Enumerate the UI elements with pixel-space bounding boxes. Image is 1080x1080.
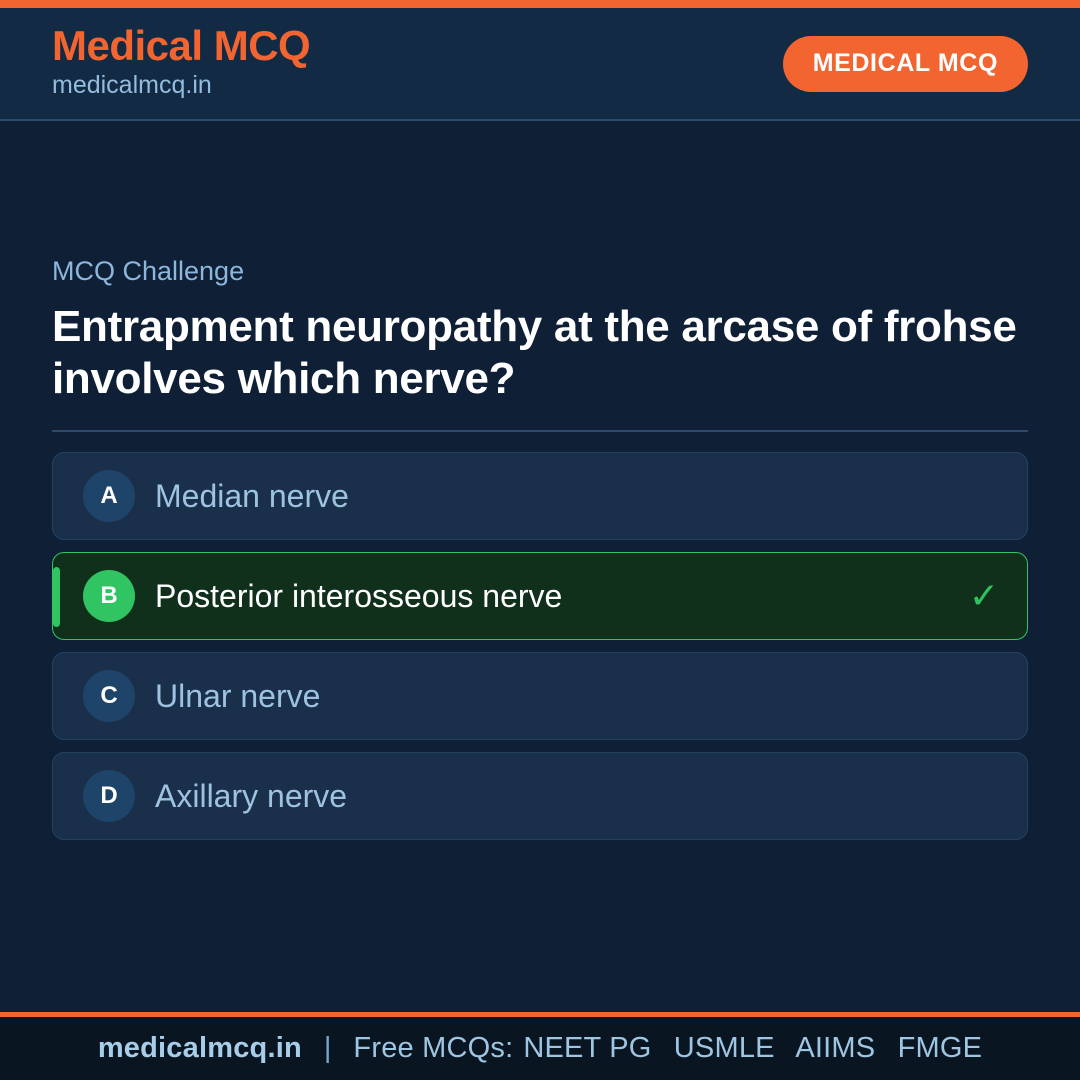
- question-block: MCQ Challenge Entrapment neuropathy at t…: [52, 255, 1028, 840]
- main-content: MCQ Challenge Entrapment neuropathy at t…: [0, 123, 1080, 1012]
- option-letter-badge: D: [83, 770, 135, 822]
- option-letter-badge: C: [83, 670, 135, 722]
- eyebrow-label: MCQ Challenge: [52, 255, 1028, 287]
- options-list: A Median nerve ✓ B Posterior interosseou…: [52, 452, 1028, 840]
- option-label: Ulnar nerve: [155, 679, 320, 714]
- option-c[interactable]: C Ulnar nerve ✓: [52, 652, 1028, 740]
- option-letter-badge: A: [83, 470, 135, 522]
- correct-accent-bar: [53, 567, 60, 627]
- question-divider: [52, 430, 1028, 432]
- brand-title: Medical MCQ: [52, 24, 310, 68]
- footer-exam-aiims[interactable]: AIIMS: [795, 1032, 875, 1064]
- footer-exam-list: NEET PG USMLE AIIMS FMGE: [523, 1032, 982, 1065]
- check-icon: ✓: [969, 578, 999, 614]
- footer-label: Free MCQs:: [353, 1032, 513, 1065]
- brand-block: Medical MCQ medicalmcq.in: [52, 24, 310, 101]
- option-letter-badge: B: [83, 570, 135, 622]
- brand-badge: MEDICAL MCQ: [783, 36, 1028, 92]
- footer-exam-usmle[interactable]: USMLE: [674, 1032, 775, 1064]
- top-accent-bar: [0, 0, 1080, 8]
- option-label: Posterior interosseous nerve: [155, 579, 562, 614]
- option-label: Axillary nerve: [155, 779, 347, 814]
- footer-exam-fmge[interactable]: FMGE: [898, 1032, 983, 1064]
- option-label: Median nerve: [155, 479, 349, 514]
- option-a[interactable]: A Median nerve ✓: [52, 452, 1028, 540]
- footer-exam-neet[interactable]: NEET PG: [523, 1032, 651, 1064]
- footer-separator: |: [324, 1032, 332, 1065]
- footer-site-link[interactable]: medicalmcq.in: [98, 1032, 302, 1065]
- option-b[interactable]: B Posterior interosseous nerve ✓: [52, 552, 1028, 640]
- question-text: Entrapment neuropathy at the arcase of f…: [52, 301, 1028, 405]
- option-d[interactable]: D Axillary nerve ✓: [52, 752, 1028, 840]
- page-footer: medicalmcq.in | Free MCQs: NEET PG USMLE…: [0, 1012, 1080, 1080]
- page-header: Medical MCQ medicalmcq.in MEDICAL MCQ: [0, 8, 1080, 121]
- brand-subtitle: medicalmcq.in: [52, 70, 310, 101]
